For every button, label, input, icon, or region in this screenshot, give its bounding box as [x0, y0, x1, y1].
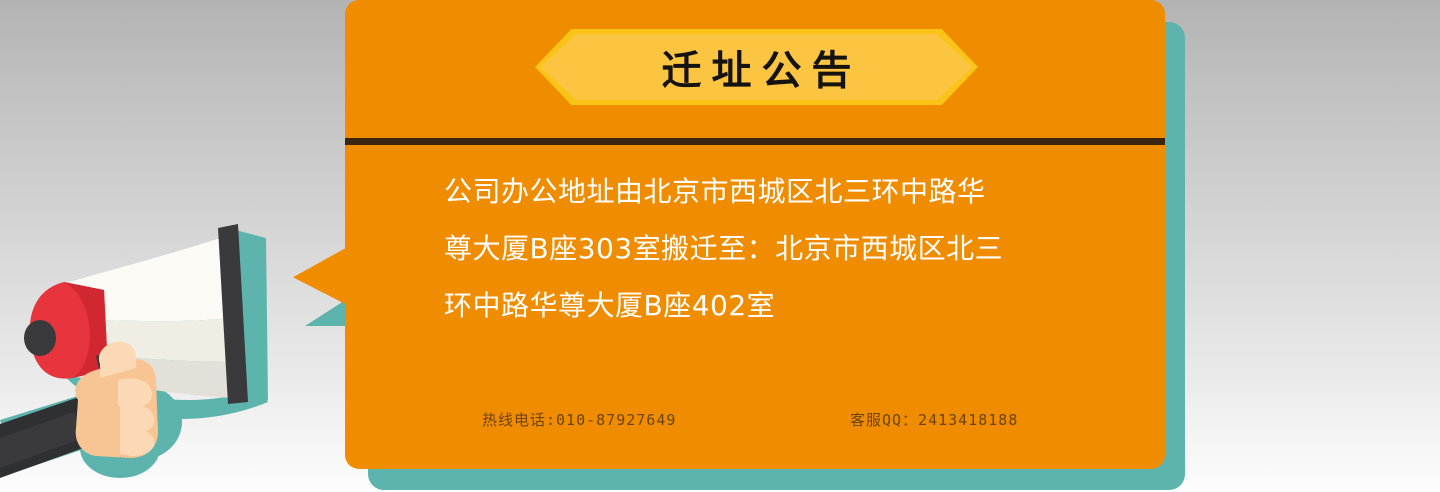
body-line-1: 公司办公地址由北京市西城区北三环中路华 [444, 163, 1094, 220]
body-line-3: 环中路华尊大厦B座402室 [444, 277, 1094, 334]
announcement-banner: 迁址公告 公司办公地址由北京市西城区北三环中路华 尊大厦B座303室搬迁至：北京… [0, 0, 1440, 492]
announcement-card: 迁址公告 公司办公地址由北京市西城区北三环中路华 尊大厦B座303室搬迁至：北京… [345, 0, 1165, 469]
page-title: 迁址公告 [535, 29, 978, 105]
service-qq: 客服QQ：2413418188 [850, 409, 1018, 430]
title-divider [345, 138, 1165, 145]
title-ribbon: 迁址公告 [535, 29, 978, 105]
megaphone-red-section-icon [24, 282, 108, 379]
body-line-2: 尊大厦B座303室搬迁至：北京市西城区北三 [444, 220, 1094, 277]
megaphone-illustration [0, 190, 345, 492]
announcement-body: 公司办公地址由北京市西城区北三环中路华 尊大厦B座303室搬迁至：北京市西城区北… [444, 163, 1094, 334]
hotline-phone: 热线电话:010-87927649 [482, 409, 676, 430]
